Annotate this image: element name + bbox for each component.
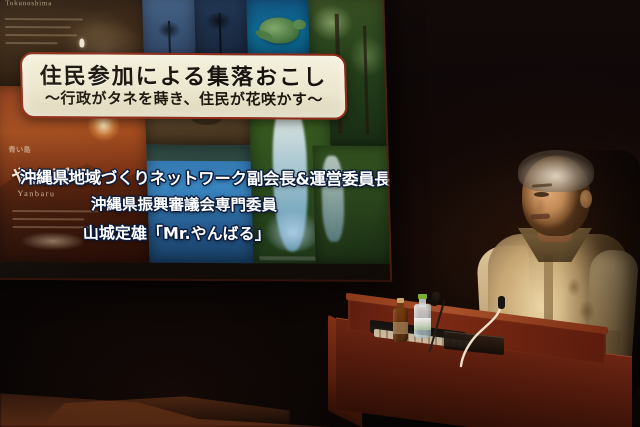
speaker-mouth: [530, 213, 550, 219]
projection-screen: Tokunoshima: [0, 0, 392, 282]
turtle-head: [293, 20, 306, 30]
bottle-cap: [418, 294, 427, 299]
tree-trunk: [363, 26, 369, 134]
palm-frond-icon: [152, 17, 187, 43]
bottle-cap: [397, 298, 405, 303]
turtle-flipper: [254, 28, 274, 42]
tea-bottle: [393, 300, 408, 346]
bottle-label: [393, 322, 408, 334]
credit-line-3: 山城定雄「Mr.やんばる」: [0, 219, 377, 245]
palm-frond-icon: [198, 7, 239, 35]
slide-subtitle: 〜行政がタネを蒔き、住民が花咲かす〜: [23, 87, 346, 110]
slide-title-plaque: 住民参加による集落おこし 〜行政がタネを蒔き、住民が花咲かす〜: [20, 52, 348, 120]
gooseneck-icon: [452, 296, 508, 368]
tokunoshima-text-lines: [5, 18, 84, 50]
tokunoshima-caption: Tokunoshima: [5, 0, 52, 7]
turtle-shell: [259, 17, 300, 43]
aoi-shima-label: 青い島: [8, 144, 31, 155]
bird-accent: [79, 38, 84, 47]
river-bank: [146, 145, 251, 162]
speaker-nose: [536, 198, 546, 214]
gooseneck-microphone: [452, 296, 508, 368]
speaker-hair: [518, 150, 594, 192]
slide-credit-block: 沖縄県地域づくりネットワーク副会長&運営委員長 沖縄県振興審議会専門委員 山城定…: [0, 164, 392, 245]
credit-line-1: 沖縄県地域づくりネットワーク副会長&運営委員長: [5, 164, 392, 190]
water-bottle: [414, 296, 431, 346]
bottle-label: [414, 318, 431, 330]
speaker-eye: [534, 192, 549, 197]
projected-slide: Tokunoshima: [0, 0, 392, 282]
lecture-hall-photo: Tokunoshima: [0, 0, 640, 427]
speaker-ear: [580, 190, 592, 208]
credit-line-2: 沖縄県振興審議会専門委員: [0, 192, 384, 216]
